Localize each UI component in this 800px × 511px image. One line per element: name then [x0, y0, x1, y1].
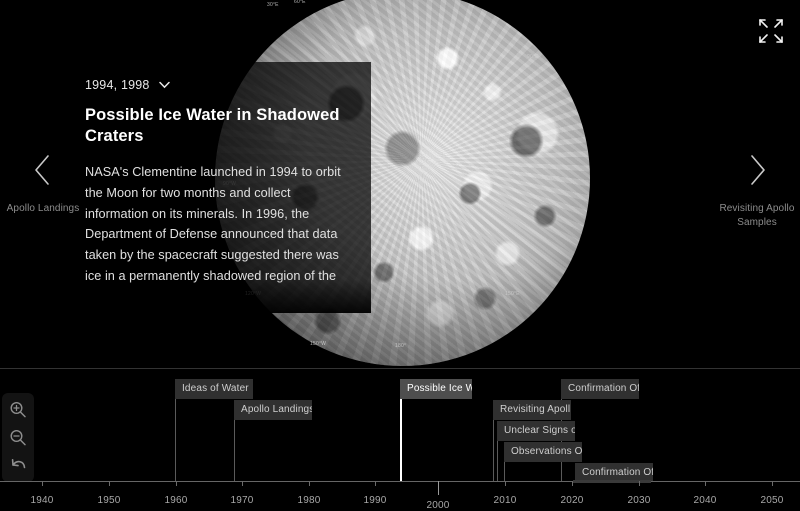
axis-tick-label: 1940: [30, 495, 53, 506]
axis-tick: [42, 481, 43, 486]
axis-tick: [176, 481, 177, 486]
axis-baseline: [0, 481, 800, 482]
axis-tick: [309, 481, 310, 486]
moon-grid-label: 90°E: [527, 54, 539, 60]
axis-tick: [505, 481, 506, 486]
axis-tick-label: 1990: [363, 495, 386, 506]
event-title: Possible Ice Water in Shadowed Craters: [85, 105, 341, 148]
axis-tick: [772, 481, 773, 486]
moon-grid-label: 180°: [395, 343, 406, 349]
axis-tick-label: 1950: [97, 495, 120, 506]
axis-tick-label: 2050: [760, 495, 783, 506]
axis-tick-label: 2030: [627, 495, 650, 506]
chevron-left-icon: [28, 150, 58, 190]
event-description: NASA's Clementine launched in 1994 to or…: [85, 162, 341, 287]
timeline-event-bar[interactable]: Apollo Landings: [234, 400, 312, 420]
timeline-event-bar[interactable]: Possible Ice W...: [400, 379, 472, 399]
timeline-event-bar[interactable]: Observations O...: [504, 442, 582, 462]
moon-grid-label: 120°E: [545, 176, 560, 182]
next-event-label: Revisiting Apollo Samples: [715, 202, 799, 229]
axis-tick: [705, 481, 706, 486]
timeline-axis: 1940195019601970198019902000201020202030…: [0, 481, 800, 511]
axis-tick: [438, 481, 439, 495]
moon-grid-label: 60°E: [294, 0, 306, 5]
axis-tick: [109, 481, 110, 486]
moon-grid-label: 0°: [401, 0, 406, 2]
axis-tick: [375, 481, 376, 486]
previous-event-label: Apollo Landings: [7, 202, 80, 216]
axis-tick: [572, 481, 573, 486]
timeline-event-bar[interactable]: Ideas of Water: [175, 379, 253, 399]
timeline-event-bar[interactable]: Revisiting Apoll...: [493, 400, 571, 420]
axis-tick-label: 1980: [297, 495, 320, 506]
moon-grid-label: 30°E: [267, 2, 279, 8]
timeline-track[interactable]: Ideas of WaterApollo LandingsPossible Ic…: [0, 369, 800, 482]
axis-tick: [242, 481, 243, 486]
axis-tick-label: 1960: [164, 495, 187, 506]
chevron-right-icon: [742, 150, 772, 190]
timeline-event-bar[interactable]: Confirmation Of...: [561, 379, 639, 399]
timeline[interactable]: Ideas of WaterApollo LandingsPossible Ic…: [0, 368, 800, 511]
previous-event-button[interactable]: Apollo Landings: [0, 150, 86, 246]
axis-tick-label: 2010: [493, 495, 516, 506]
expand-fullscreen-icon[interactable]: [756, 16, 786, 46]
zoom-out-button[interactable]: [6, 427, 30, 448]
timeline-zoom-controls: [2, 393, 34, 482]
axis-tick-label: 1970: [230, 495, 253, 506]
timeline-event-bar[interactable]: Unclear Signs o...: [497, 421, 575, 441]
moon-grid-label: 150°E: [505, 291, 520, 297]
axis-tick: [639, 481, 640, 486]
axis-tick-label: 2020: [560, 495, 583, 506]
chevron-down-icon: [159, 81, 170, 89]
event-date-label: 1994, 1998: [85, 78, 150, 92]
axis-tick-label: 2040: [693, 495, 716, 506]
next-event-button[interactable]: Revisiting Apollo Samples: [714, 150, 800, 246]
timeline-explorer-app: 30°E60°E0°90°E120°E150°E180°150°W120°W90…: [0, 0, 800, 511]
event-date-dropdown[interactable]: 1994, 1998: [85, 78, 341, 92]
zoom-in-button[interactable]: [6, 399, 30, 420]
axis-tick-label: 2000: [426, 500, 449, 511]
media-stage: 30°E60°E0°90°E120°E150°E180°150°W120°W90…: [0, 0, 800, 368]
moon-grid-label: 150°W: [310, 341, 326, 347]
reset-zoom-button[interactable]: [6, 455, 30, 476]
